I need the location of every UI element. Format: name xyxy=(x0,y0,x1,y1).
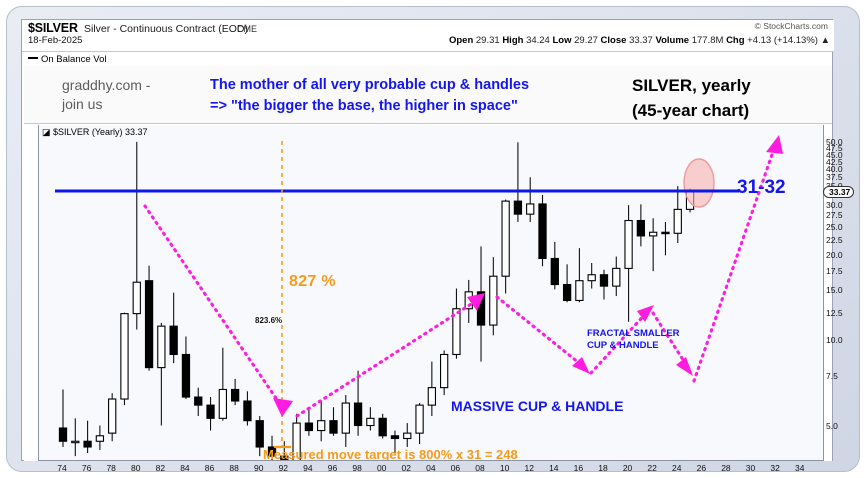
y-axis-tick: 22.5 xyxy=(826,235,843,245)
x-axis-tick: 32 xyxy=(770,463,779,473)
measured-move-annotation: Measured move target is 800% x 31 = 248 xyxy=(263,447,518,461)
y-axis-tick: 5.0 xyxy=(826,421,838,431)
percent-gain-annotation: 827 % xyxy=(289,273,336,291)
y-axis-tick: 7.5 xyxy=(826,371,838,381)
arrowhead-down-1992 xyxy=(273,398,293,417)
indicator-label: On Balance Vol xyxy=(41,54,107,65)
series-legend: ◪ $SILVER (Yearly) 33.37 xyxy=(42,127,148,138)
open-value: 29.31 xyxy=(476,35,500,46)
line-swatch-icon xyxy=(28,57,38,59)
arrowhead-down-2022 xyxy=(676,357,693,376)
x-axis-tick: 98 xyxy=(352,463,361,473)
x-axis-tick: 82 xyxy=(156,463,165,473)
x-axis-tick: 76 xyxy=(82,463,91,473)
x-axis-tick: 94 xyxy=(303,463,312,473)
open-label: Open xyxy=(449,35,473,46)
close-label: Close xyxy=(601,35,627,46)
x-axis-tick: 78 xyxy=(106,463,115,473)
y-axis-tick: 30.0 xyxy=(826,200,843,210)
x-axis-tick: 20 xyxy=(623,463,632,473)
x-axis-tick: 86 xyxy=(205,463,214,473)
y-axis-tick: 15.0 xyxy=(826,285,843,295)
x-axis-tick: 28 xyxy=(721,463,730,473)
x-axis-tick: 06 xyxy=(451,463,460,473)
exchange-label: CME xyxy=(237,24,257,34)
x-axis-tick: 18 xyxy=(598,463,607,473)
current-price-tag: 33.37 xyxy=(823,186,854,198)
x-axis-tick: 74 xyxy=(57,463,66,473)
stockcharts-credit: © StockCharts.com xyxy=(755,21,828,31)
arrow-decline-1980-1992 xyxy=(145,206,282,407)
volume-value: 177.8M xyxy=(692,35,724,46)
close-value: 33.37 xyxy=(629,35,653,46)
low-value: 29.27 xyxy=(574,35,598,46)
current-candle-highlight xyxy=(684,159,714,207)
x-axis-tick: 80 xyxy=(131,463,140,473)
change-value: +4.13 (+14.13%) ▲ xyxy=(747,35,830,46)
ohlc-quote-line: Open 29.31 High 34.24 Low 29.27 Close 33… xyxy=(449,35,830,46)
x-axis-tick: 04 xyxy=(426,463,435,473)
change-label: Chg xyxy=(726,35,744,46)
x-axis-tick: 90 xyxy=(254,463,263,473)
x-axis-tick: 24 xyxy=(672,463,681,473)
target-zone-annotation: 31-32 xyxy=(737,177,786,199)
price-plot[interactable]: ◪ $SILVER (Yearly) 33.37 xyxy=(38,125,824,461)
quote-date: 18-Feb-2025 xyxy=(28,35,82,46)
arrowhead-up-2011 xyxy=(467,293,485,311)
drawing-overlays xyxy=(39,125,824,461)
y-axis-tick: 25.0 xyxy=(826,222,843,232)
chart-header: $SILVER Silver - Continuous Contract (EO… xyxy=(22,20,834,52)
x-axis-tick: 22 xyxy=(647,463,656,473)
y-axis-tick: 20.0 xyxy=(826,250,843,260)
x-axis-tick: 00 xyxy=(377,463,386,473)
volume-label: Volume xyxy=(655,35,689,46)
chart-panel: $SILVER Silver - Continuous Contract (EO… xyxy=(21,19,833,461)
high-label: High xyxy=(502,35,523,46)
chart-title: SILVER, yearly (45-year chart) xyxy=(632,73,751,123)
x-axis-tick: 34 xyxy=(795,463,804,473)
x-axis-tick: 16 xyxy=(574,463,583,473)
x-axis-tick: 02 xyxy=(402,463,411,473)
annotation-band: graddhy.com - join us The mother of all … xyxy=(24,66,832,124)
x-axis-tick: 14 xyxy=(549,463,558,473)
x-axis: 7476788082848688909294969800020406081012… xyxy=(38,461,824,477)
x-axis-tick: 96 xyxy=(328,463,337,473)
y-axis-tick: 12.5 xyxy=(826,308,843,318)
plot-wrapper: ◪ $SILVER (Yearly) 33.37 xyxy=(24,125,832,461)
x-axis-tick: 88 xyxy=(229,463,238,473)
x-axis-tick: 30 xyxy=(746,463,755,473)
arrow-decline-2011-2015 xyxy=(497,297,584,367)
y-axis: 50.047.545.042.540.037.535.030.027.525.0… xyxy=(822,125,866,461)
massive-cup-handle-annotation: MASSIVE CUP & HANDLE xyxy=(451,398,623,414)
x-axis-tick: 92 xyxy=(279,463,288,473)
x-axis-tick: 12 xyxy=(524,463,533,473)
y-axis-tick: 10.0 xyxy=(826,335,843,345)
indicator-strip: On Balance Vol xyxy=(28,54,828,66)
percent-precise-label: 823.6% xyxy=(254,316,283,325)
arrowhead-up-projection xyxy=(766,135,783,154)
ticker-symbol: $SILVER xyxy=(28,21,78,35)
chart-screenshot: $SILVER Silver - Continuous Contract (EO… xyxy=(0,0,866,478)
x-axis-tick: 84 xyxy=(180,463,189,473)
fractal-cup-handle-annotation: FRACTAL SMALLER CUP & HANDLE xyxy=(587,328,680,352)
y-axis-tick: 17.5 xyxy=(826,266,843,276)
low-label: Low xyxy=(552,35,571,46)
instrument-name: Silver - Continuous Contract (EOD) xyxy=(84,23,248,35)
brand-watermark: graddhy.com - join us xyxy=(62,76,150,114)
x-axis-tick: 08 xyxy=(475,463,484,473)
headline-annotation: The mother of all very probable cup & ha… xyxy=(210,75,529,117)
y-axis-tick: 27.5 xyxy=(826,210,843,220)
high-value: 34.24 xyxy=(526,35,550,46)
x-axis-tick: 26 xyxy=(697,463,706,473)
window-chrome: $SILVER Silver - Continuous Contract (EO… xyxy=(6,6,860,472)
x-axis-tick: 10 xyxy=(500,463,509,473)
